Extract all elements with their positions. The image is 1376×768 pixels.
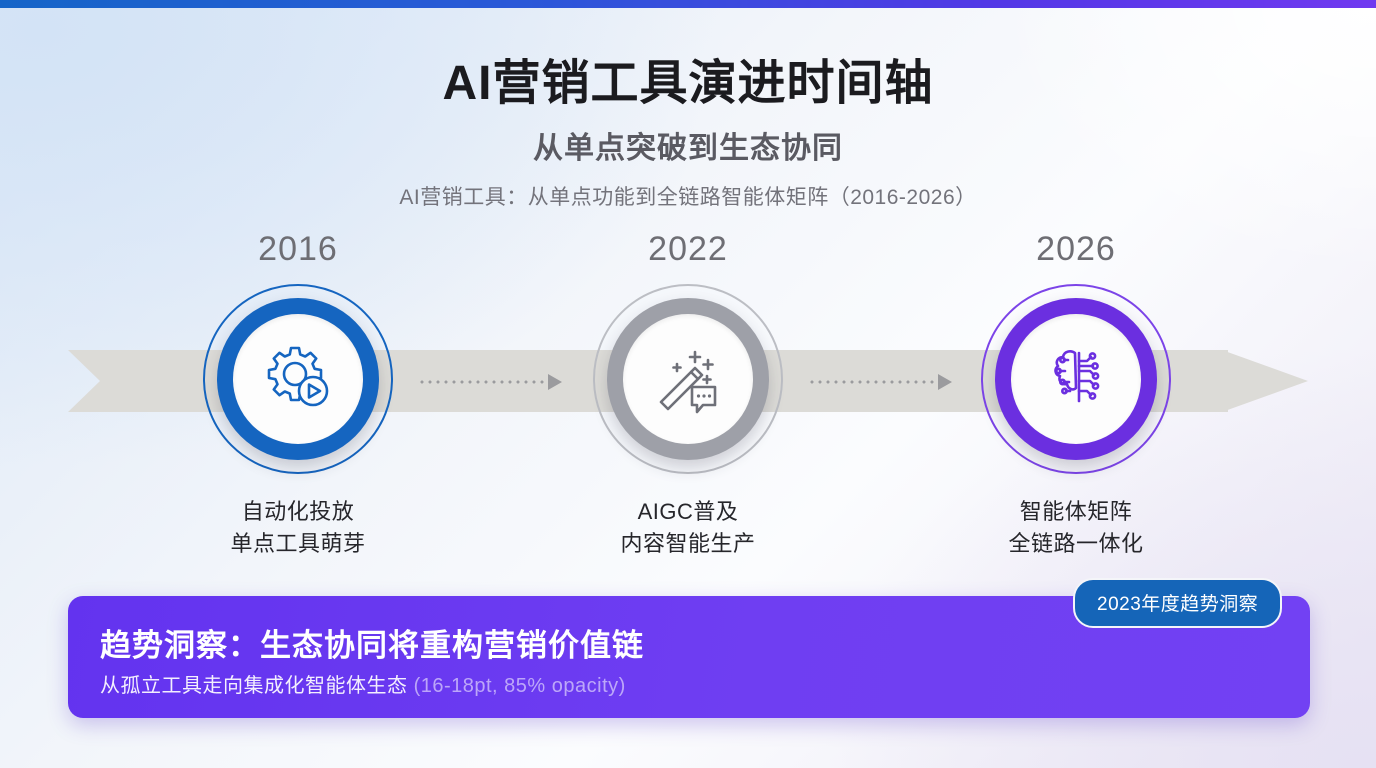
connector-dots — [418, 380, 546, 384]
banner-subtitle-note: (16-18pt, 85% opacity) — [414, 675, 626, 697]
node-caption-line2: 内容智能生产 — [558, 528, 818, 560]
status-badge[interactable]: 2023年度趋势洞察 — [1073, 578, 1282, 628]
timeline-node-2016[interactable]: 2016 自动化投放 单点工具萌芽 — [168, 232, 428, 560]
timeline-node-2022[interactable]: 2022 AIGC普及 内容智能生产 — [558, 232, 818, 560]
node-caption: 智能体矩阵 全链路一体化 — [946, 496, 1206, 560]
node-caption-line2: 单点工具萌芽 — [168, 528, 428, 560]
connector-arrow-2 — [808, 374, 954, 390]
node-caption-line2: 全链路一体化 — [946, 528, 1206, 560]
top-accent-bar — [0, 0, 1376, 8]
banner-title: 趋势洞察：生态协同将重构营销价值链 — [100, 620, 644, 665]
insight-banner: 趋势洞察：生态协同将重构营销价值链 从孤立工具走向集成化智能体生态 (16-18… — [68, 596, 1310, 718]
gear-play-icon — [261, 340, 335, 419]
node-circle[interactable] — [593, 284, 783, 474]
banner-subtitle: 从孤立工具走向集成化智能体生态 (16-18pt, 85% opacity) — [100, 669, 626, 698]
node-caption: 自动化投放 单点工具萌芽 — [168, 496, 428, 560]
connector-arrow-1 — [418, 374, 564, 390]
node-caption-line1: 自动化投放 — [168, 496, 428, 528]
banner-subtitle-main: 从孤立工具走向集成化智能体生态 — [100, 675, 408, 697]
timeline-node-2026[interactable]: 2026 — [946, 232, 1206, 560]
header: AI营销工具演进时间轴 从单点突破到生态协同 AI营销工具：从单点功能到全链路智… — [0, 56, 1376, 211]
node-icon-disc — [623, 314, 753, 444]
node-year-label: 2022 — [558, 232, 818, 266]
connector-dots — [808, 380, 936, 384]
node-icon-disc — [1011, 314, 1141, 444]
node-circle[interactable] — [203, 284, 393, 474]
page-subtitle: 从单点突破到生态协同 — [0, 123, 1376, 167]
node-caption-line1: AIGC普及 — [558, 496, 818, 528]
magic-wand-chat-icon — [651, 340, 725, 419]
node-caption: AIGC普及 内容智能生产 — [558, 496, 818, 560]
node-circle[interactable] — [981, 284, 1171, 474]
node-caption-line1: 智能体矩阵 — [946, 496, 1206, 528]
node-year-label: 2016 — [168, 232, 428, 266]
timeline-band-arrowhead — [1222, 326, 1308, 436]
node-year-label: 2026 — [946, 232, 1206, 266]
node-icon-disc — [233, 314, 363, 444]
page-title: AI营销工具演进时间轴 — [0, 56, 1376, 111]
page-description: AI营销工具：从单点功能到全链路智能体矩阵（2016-2026） — [0, 181, 1376, 211]
ai-brain-circuit-icon — [1039, 340, 1113, 419]
